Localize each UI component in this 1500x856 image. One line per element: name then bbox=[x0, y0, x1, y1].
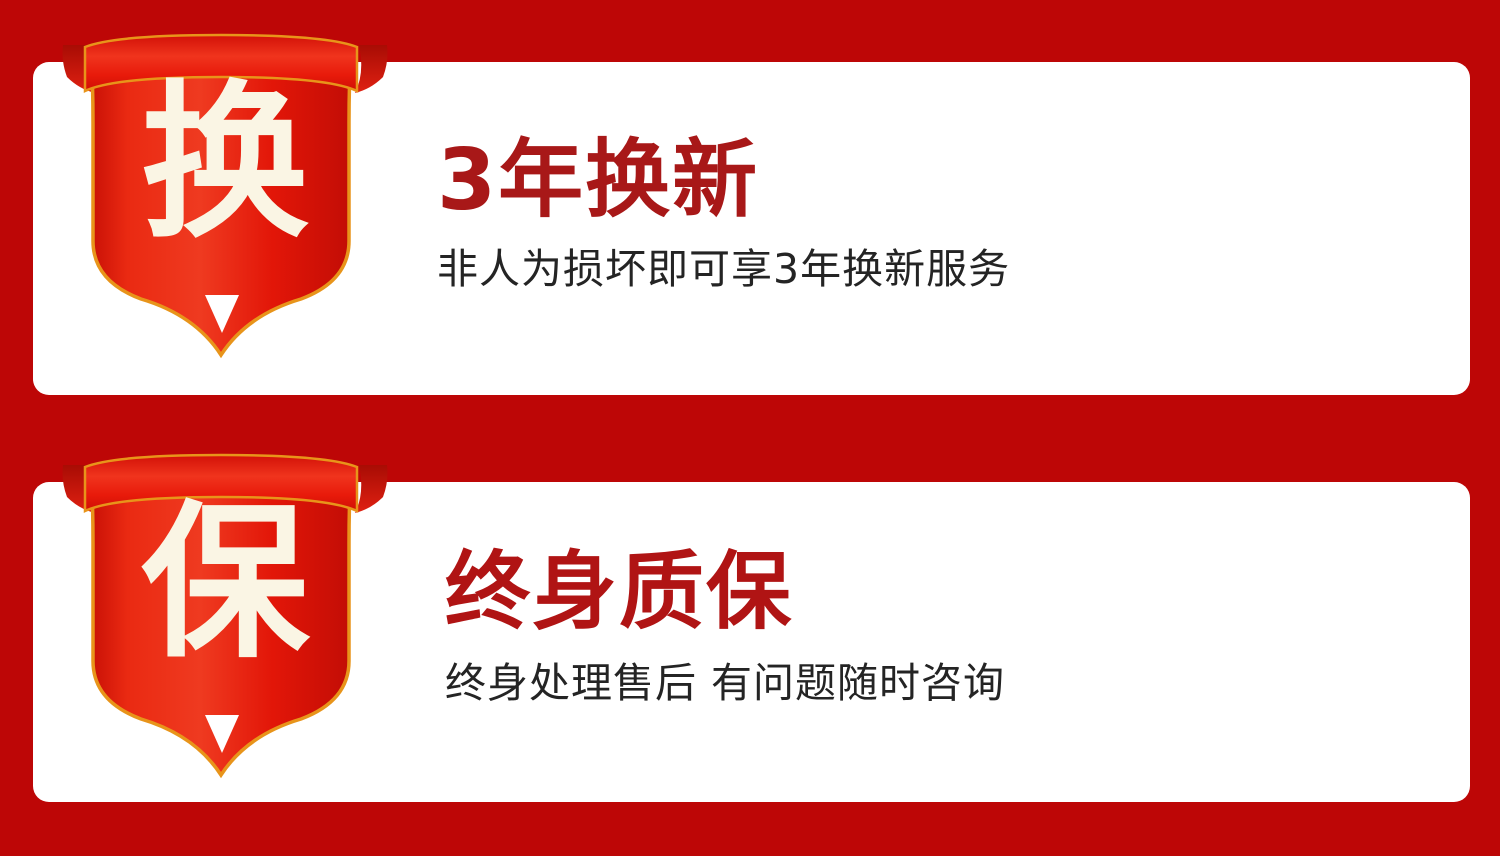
guarantee-subtitle-warranty: 终身处理售后 有问题随时咨询 bbox=[445, 661, 1005, 706]
guarantee-text-replacement: 3年换新 非人为损坏即可享3年换新服务 bbox=[437, 136, 1010, 292]
guarantee-text-warranty: 终身质保 终身处理售后 有问题随时咨询 bbox=[445, 548, 1005, 706]
guarantee-title-warranty: 终身质保 bbox=[445, 548, 1005, 637]
guarantee-title-replacement: 3年换新 bbox=[437, 136, 1010, 225]
guarantee-subtitle-replacement: 非人为损坏即可享3年换新服务 bbox=[437, 247, 1010, 292]
service-guarantee-banner: 换 3年换新 非人为损坏即可享3年换新服务 bbox=[0, 0, 1500, 856]
ribbon-badge-replacement: 换 bbox=[55, 27, 395, 367]
ribbon-char-warranty: 保 bbox=[55, 499, 395, 667]
ribbon-badge-warranty: 保 bbox=[55, 447, 395, 787]
ribbon-char-replacement: 换 bbox=[55, 79, 395, 247]
